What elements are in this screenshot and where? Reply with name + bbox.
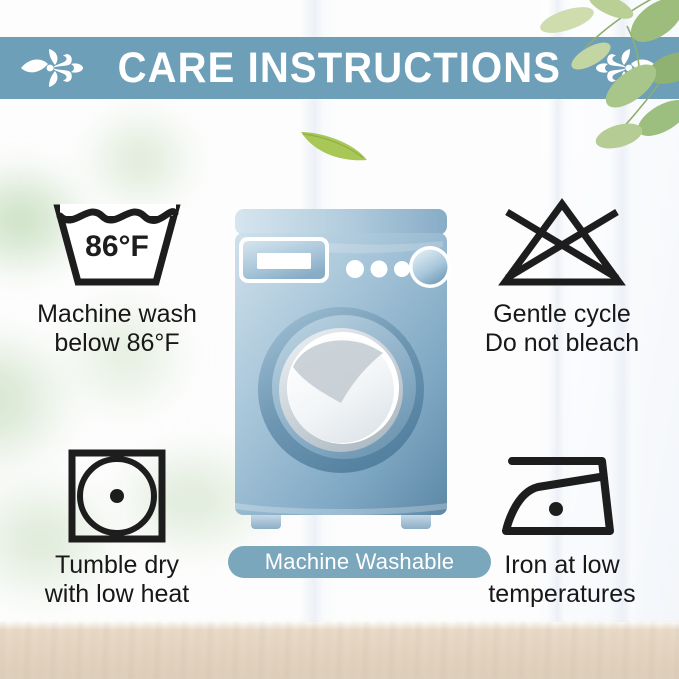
badge-label: Machine Washable <box>265 549 454 575</box>
care-symbol-machine-wash: 86°F Machine wash below 86°F <box>2 192 232 358</box>
iron-icon <box>492 445 632 545</box>
heat-level-dot <box>110 489 124 503</box>
detergent-drawer <box>241 239 327 281</box>
table-wood-grain <box>0 622 679 679</box>
triangle-crossed-icon <box>491 194 633 294</box>
care-symbol-do-not-bleach: Gentle cycle Do not bleach <box>447 192 677 358</box>
floating-leaf-icon <box>297 122 371 164</box>
washer-feet <box>251 515 431 529</box>
care-instructions-poster: CARE INSTRUCTIONS <box>0 0 679 679</box>
control-indicator-dot <box>371 261 388 278</box>
cell-icon-wrapper <box>491 192 633 296</box>
wash-temperature-value: 86°F <box>85 230 149 263</box>
cell-icon-wrapper <box>492 443 632 547</box>
care-symbol-label: Gentle cycle Do not bleach <box>485 300 639 358</box>
care-symbol-label: Iron at low temperatures <box>488 551 635 609</box>
washing-machine-illustration <box>231 207 451 537</box>
tumble-dry-square-icon <box>62 445 172 545</box>
control-indicator-dot <box>394 261 410 277</box>
care-symbol-tumble-dry: Tumble dry with low heat <box>2 443 232 609</box>
care-symbol-label: Machine wash below 86°F <box>37 300 197 358</box>
care-symbol-iron: Iron at low temperatures <box>447 443 677 609</box>
control-indicator-dot <box>346 260 364 278</box>
heat-level-dot <box>549 502 563 516</box>
wash-tub-icon: 86°F <box>46 194 188 294</box>
washer-top-panel <box>235 209 447 235</box>
washer-door <box>258 307 424 473</box>
care-symbol-label: Tumble dry with low heat <box>45 551 190 609</box>
cell-icon-wrapper: 86°F <box>46 192 188 296</box>
leaf-decoration-icon <box>507 0 679 160</box>
background-table-surface <box>0 622 679 679</box>
cell-icon-wrapper <box>62 443 172 547</box>
page-title: CARE INSTRUCTIONS <box>118 44 561 93</box>
fleur-de-lis-icon <box>19 45 85 91</box>
program-knob <box>409 246 451 288</box>
